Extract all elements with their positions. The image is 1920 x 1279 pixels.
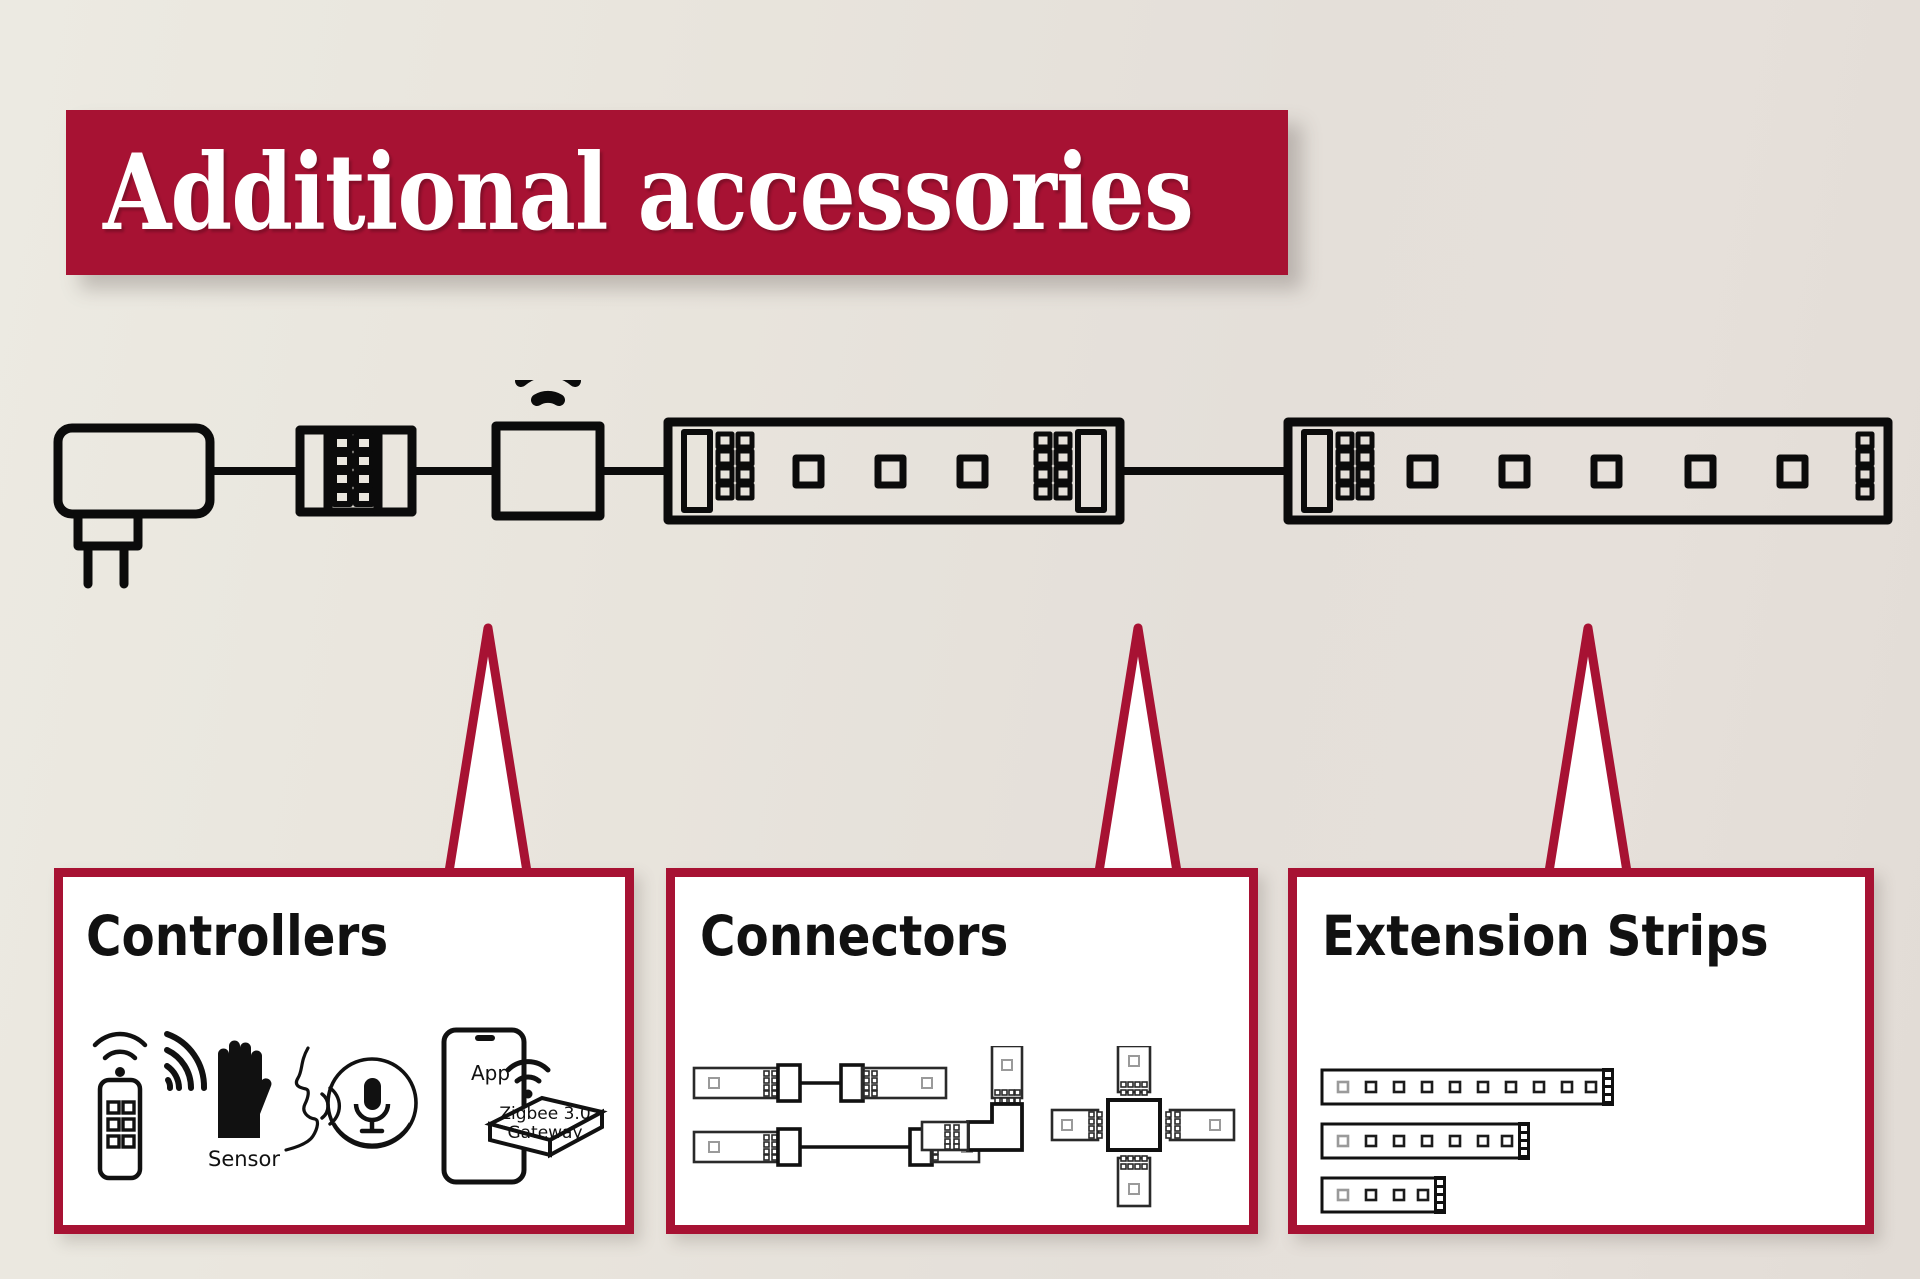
- connector-1: [300, 430, 412, 512]
- hand-glyph: [218, 1041, 271, 1139]
- callout-box-controllers[interactable]: Controllers: [54, 868, 634, 1234]
- page-title: Additional accessories: [66, 140, 1193, 245]
- wireless-controller-box: [496, 426, 600, 516]
- extension-strip-long-icon: [1322, 1068, 1614, 1106]
- power-adapter-body: [58, 428, 210, 514]
- callout-pointer-connectors: [1030, 620, 1250, 880]
- extension-strip-icon-rows: [1308, 1046, 1856, 1216]
- remote-control-icon: [95, 1034, 145, 1178]
- straight-connector-short-icon: [694, 1065, 946, 1101]
- extension-strip-medium-icon: [1322, 1122, 1530, 1160]
- voice-assistant-speaker-icon: [286, 1048, 416, 1150]
- led-strip-1: [668, 422, 1120, 520]
- app-label: App: [471, 1061, 510, 1085]
- led-system-diagram: [0, 380, 1920, 620]
- callout-title-controllers: Controllers: [86, 904, 388, 968]
- led-dot: [1410, 458, 1805, 485]
- cross-connector-icon: [1052, 1046, 1234, 1206]
- poster-canvas: Additional accessories: [0, 0, 1920, 1279]
- callout-title-extension: Extension Strips: [1322, 904, 1769, 968]
- zigbee-label-line2: Gateway: [507, 1123, 582, 1143]
- callout-pointer-extension: [1480, 620, 1700, 880]
- controllers-icon-row: Sensor: [72, 1018, 612, 1218]
- callout-box-connectors[interactable]: Connectors: [666, 868, 1258, 1234]
- sensor-label: Sensor: [208, 1147, 280, 1171]
- connectors-icon-row: [686, 1046, 1242, 1216]
- zigbee-label-line1: Zigbee 3.0: [499, 1104, 590, 1124]
- title-banner: Additional accessories: [66, 110, 1288, 275]
- motion-sensor-hand-icon: Sensor: [167, 1034, 280, 1171]
- remote-wifi-dot: [115, 1067, 125, 1077]
- callout-title-connectors: Connectors: [700, 904, 1008, 968]
- led-dot: [796, 458, 985, 485]
- wifi-icon: [506, 380, 590, 400]
- extension-strip-short-icon: [1322, 1176, 1446, 1214]
- phone-notch: [475, 1035, 495, 1041]
- callout-pointer-controllers: [380, 620, 600, 880]
- callout-box-extension[interactable]: Extension Strips: [1288, 868, 1874, 1234]
- power-plug-base: [78, 514, 138, 546]
- led-strip-2: [1288, 422, 1888, 520]
